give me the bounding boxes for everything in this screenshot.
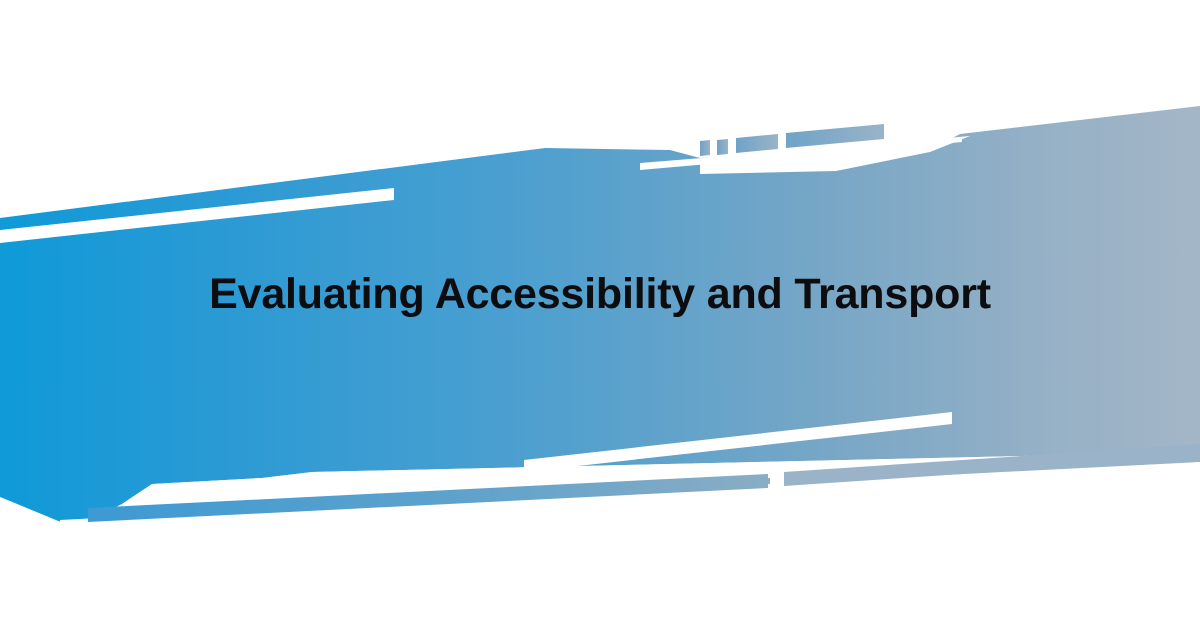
banner-container: Evaluating Accessibility and Transport (0, 0, 1200, 630)
banner-decorative-artwork (0, 0, 1200, 630)
dash-mark-1 (700, 140, 710, 156)
dash-mark-3 (736, 134, 778, 153)
dash-mark-2 (717, 139, 728, 155)
dash-mark-4 (786, 124, 884, 148)
